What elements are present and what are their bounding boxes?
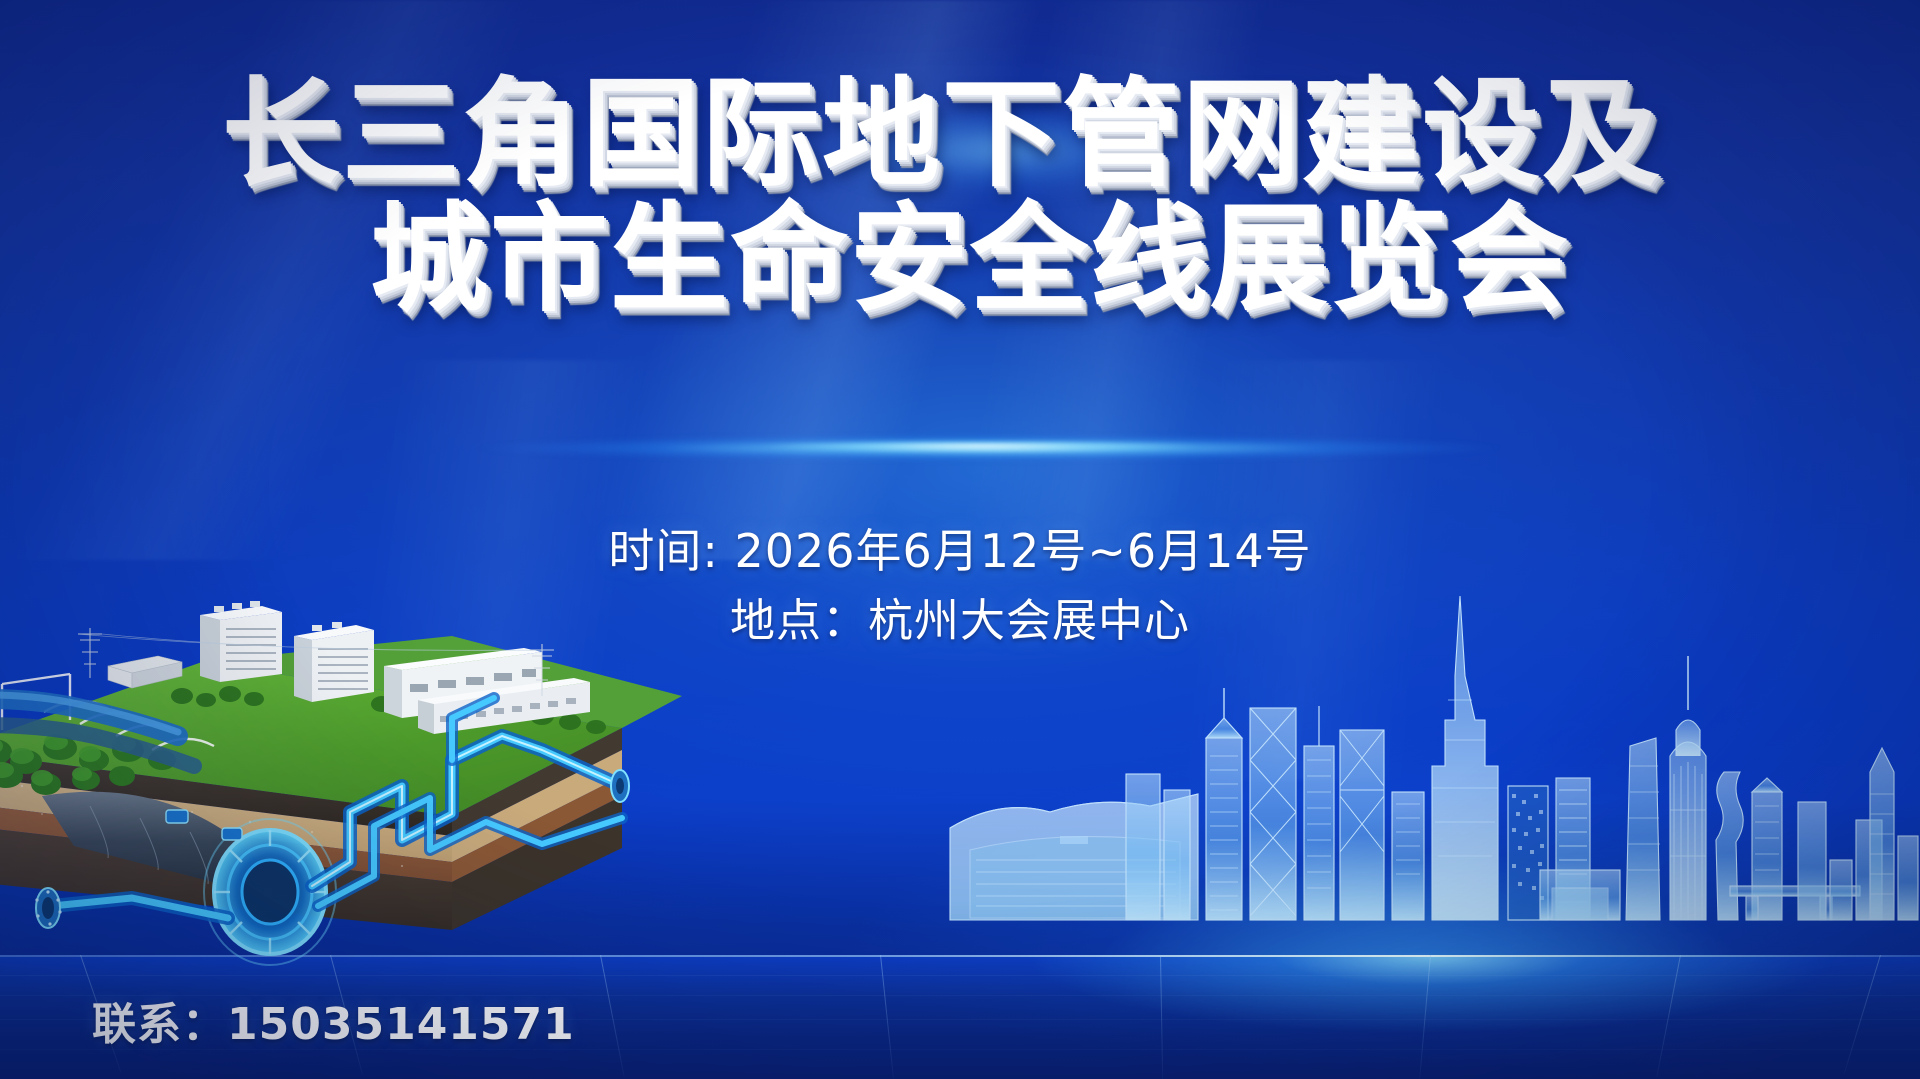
event-date: 时间: 2026年6月12号~6月14号 xyxy=(0,516,1920,586)
event-meta: 时间: 2026年6月12号~6月14号 地点：杭州大会展中心 xyxy=(0,516,1920,656)
poster-stage: 长三角国际地下管网建设及 城市生命安全线展览会 时间: 2026年6月12号~6… xyxy=(0,0,1920,1079)
contact-phone: 联系：15035141571 xyxy=(92,988,575,1052)
event-venue: 地点：杭州大会展中心 xyxy=(0,586,1920,656)
